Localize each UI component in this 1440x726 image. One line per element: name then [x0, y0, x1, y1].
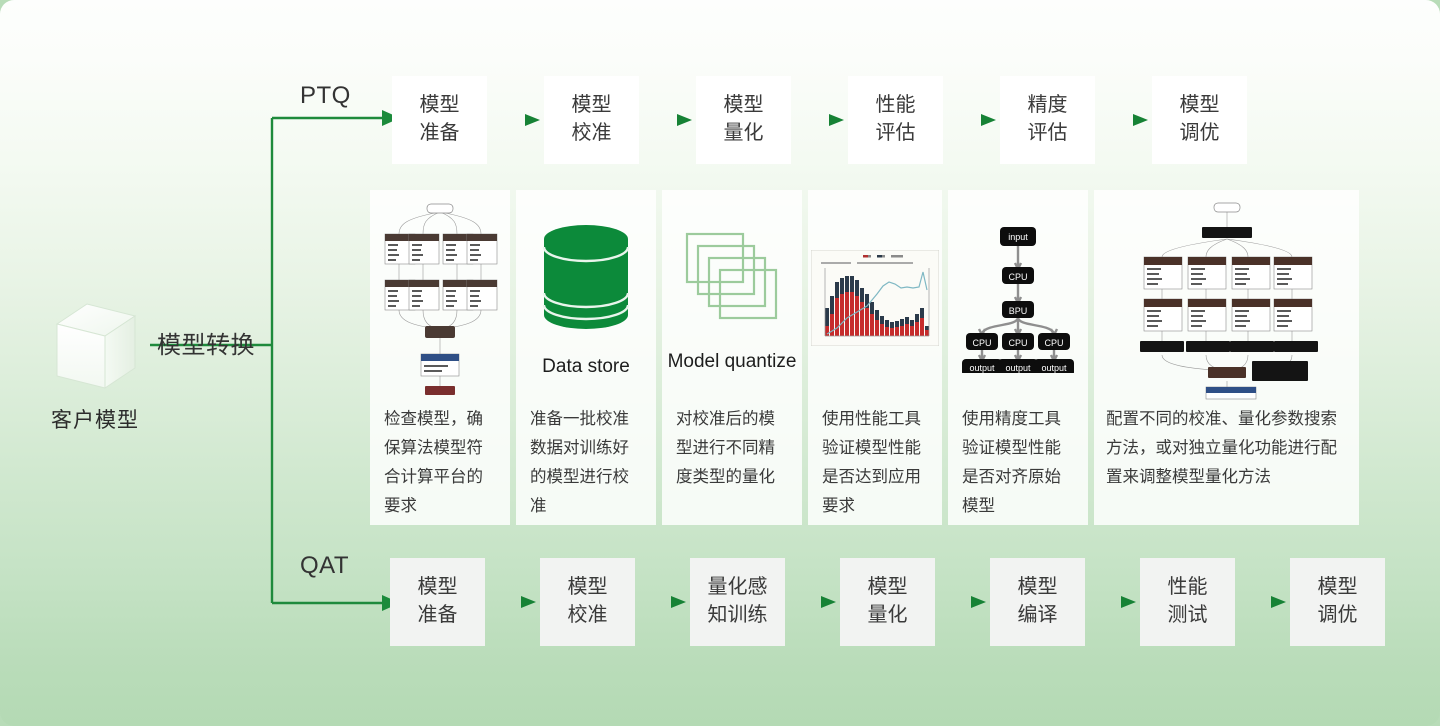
- card-caption: Data store: [542, 355, 630, 379]
- svg-text:CPU: CPU: [972, 338, 991, 348]
- step-line1: 模型: [868, 574, 908, 602]
- svg-text:output: output: [969, 363, 995, 373]
- step-line2: 校准: [568, 602, 608, 630]
- step-line1: 模型: [420, 92, 460, 120]
- flow-arrow-icon: [1085, 595, 1140, 609]
- qat-step-model-calibrate[interactable]: 模型 校准: [540, 558, 635, 646]
- card-description: 使用性能工具验证模型性能是否达到应用要求: [808, 405, 942, 521]
- step-line1: 模型: [568, 574, 608, 602]
- bar-chart-icon: [808, 190, 942, 405]
- qat-step-model-quantize[interactable]: 模型 量化: [840, 558, 935, 646]
- step-line1: 模型: [724, 92, 764, 120]
- qat-step-model-prepare[interactable]: 模型 准备: [390, 558, 485, 646]
- step-line1: 精度: [1028, 92, 1068, 120]
- card-model-prepare: 检查模型，确保算法模型符合计算平台的要求: [370, 190, 510, 525]
- flow-arrow-icon: [935, 595, 990, 609]
- qat-step-perf-test[interactable]: 性能 测试: [1140, 558, 1235, 646]
- qat-step-model-compile[interactable]: 模型 编译: [990, 558, 1085, 646]
- ptq-step-model-prepare[interactable]: 模型 准备: [392, 76, 487, 164]
- flow-arrow-icon: [487, 113, 544, 127]
- ptq-step-model-quantize[interactable]: 模型 量化: [696, 76, 791, 164]
- neural-network-graph-icon: [370, 190, 510, 405]
- flow-arrow-icon: [635, 595, 690, 609]
- card-description: 准备一批校准数据对训练好的模型进行校准: [516, 405, 656, 521]
- large-neural-network-graph-icon: [1094, 190, 1359, 405]
- step-line1: 模型: [1318, 574, 1358, 602]
- card-caption: Model quantize: [668, 350, 797, 374]
- ptq-step-model-calibrate[interactable]: 模型 校准: [544, 76, 639, 164]
- step-line2: 准备: [420, 120, 460, 148]
- card-description: 使用精度工具验证模型性能是否对齐原始模型: [948, 405, 1088, 521]
- step-line1: 性能: [1168, 574, 1208, 602]
- flow-arrow-icon: [791, 113, 848, 127]
- step-line2: 测试: [1168, 602, 1208, 630]
- svg-text:CPU: CPU: [1044, 338, 1063, 348]
- ptq-step-perf-eval[interactable]: 性能 评估: [848, 76, 943, 164]
- svg-text:CPU: CPU: [1008, 272, 1027, 282]
- convert-label: 模型转换: [157, 325, 255, 360]
- step-line2: 调优: [1318, 602, 1358, 630]
- step-line1: 模型: [572, 92, 612, 120]
- step-line2: 评估: [1028, 120, 1068, 148]
- step-line1: 性能: [876, 92, 916, 120]
- card-data-store: Data store 准备一批校准数据对训练好的模型进行校准: [516, 190, 656, 525]
- ptq-step-accuracy-eval[interactable]: 精度 评估: [1000, 76, 1095, 164]
- flow-arrow-icon: [943, 113, 1000, 127]
- qat-step-model-tune[interactable]: 模型 调优: [1290, 558, 1385, 646]
- card-performance-eval: 使用性能工具验证模型性能是否达到应用要求: [808, 190, 942, 525]
- step-line1: 模型: [1180, 92, 1220, 120]
- step-line2: 评估: [876, 120, 916, 148]
- ptq-label: PTQ: [300, 82, 351, 110]
- flow-arrow-icon: [639, 113, 696, 127]
- svg-text:output: output: [1005, 363, 1031, 373]
- svg-text:input: input: [1008, 232, 1028, 242]
- diagram-canvas: 客户模型 模型转换 PTQ QAT 模型 准备 模型 校: [0, 0, 1440, 726]
- step-line2: 量化: [868, 602, 908, 630]
- card-accuracy-eval: input CPU BPU CPUCPUCPU outputoutputoutp…: [948, 190, 1088, 525]
- step-line1: 模型: [1018, 574, 1058, 602]
- step-line1: 模型: [418, 574, 458, 602]
- stacked-layers-icon: Model quantize: [662, 190, 802, 405]
- svg-text:output: output: [1041, 363, 1067, 373]
- card-description: 检查模型，确保算法模型符合计算平台的要求: [370, 405, 510, 521]
- qat-label: QAT: [300, 552, 349, 580]
- database-cylinder-icon: Data store: [516, 190, 656, 405]
- svg-text:BPU: BPU: [1009, 306, 1028, 316]
- cpu-bpu-pipeline-icon: input CPU BPU CPUCPUCPU outputoutputoutp…: [948, 190, 1088, 405]
- svg-text:CPU: CPU: [1008, 338, 1027, 348]
- card-description: 配置不同的校准、量化参数搜索方法，或对独立量化功能进行配置来调整模型量化方法: [1094, 405, 1359, 492]
- flow-arrow-icon: [1235, 595, 1290, 609]
- flow-arrow-icon: [485, 595, 540, 609]
- card-model-quantize: Model quantize 对校准后的模型进行不同精度类型的量化: [662, 190, 802, 525]
- step-line2: 调优: [1180, 120, 1220, 148]
- step-line2: 量化: [724, 120, 764, 148]
- step-line2: 准备: [418, 602, 458, 630]
- step-line2: 知训练: [708, 602, 768, 630]
- qat-step-quant-aware-training[interactable]: 量化感 知训练: [690, 558, 785, 646]
- card-model-tune: 配置不同的校准、量化参数搜索方法，或对独立量化功能进行配置来调整模型量化方法: [1094, 190, 1359, 525]
- ptq-step-model-tune[interactable]: 模型 调优: [1152, 76, 1247, 164]
- flow-arrow-icon: [785, 595, 840, 609]
- card-description: 对校准后的模型进行不同精度类型的量化: [662, 405, 802, 492]
- step-line1: 量化感: [708, 574, 768, 602]
- detail-card-strip: 检查模型，确保算法模型符合计算平台的要求 Data store 准备一批校准数据…: [370, 190, 1359, 525]
- step-line2: 校准: [572, 120, 612, 148]
- step-line2: 编译: [1018, 602, 1058, 630]
- qat-flow-row: 模型 准备 模型 校准 量化感 知训练 模型 量化 模型 编译 性能 测试: [390, 558, 1385, 646]
- ptq-flow-row: 模型 准备 模型 校准 模型 量化 性能 评估 精度 评估 模型 调优: [392, 76, 1247, 164]
- flow-arrow-icon: [1095, 113, 1152, 127]
